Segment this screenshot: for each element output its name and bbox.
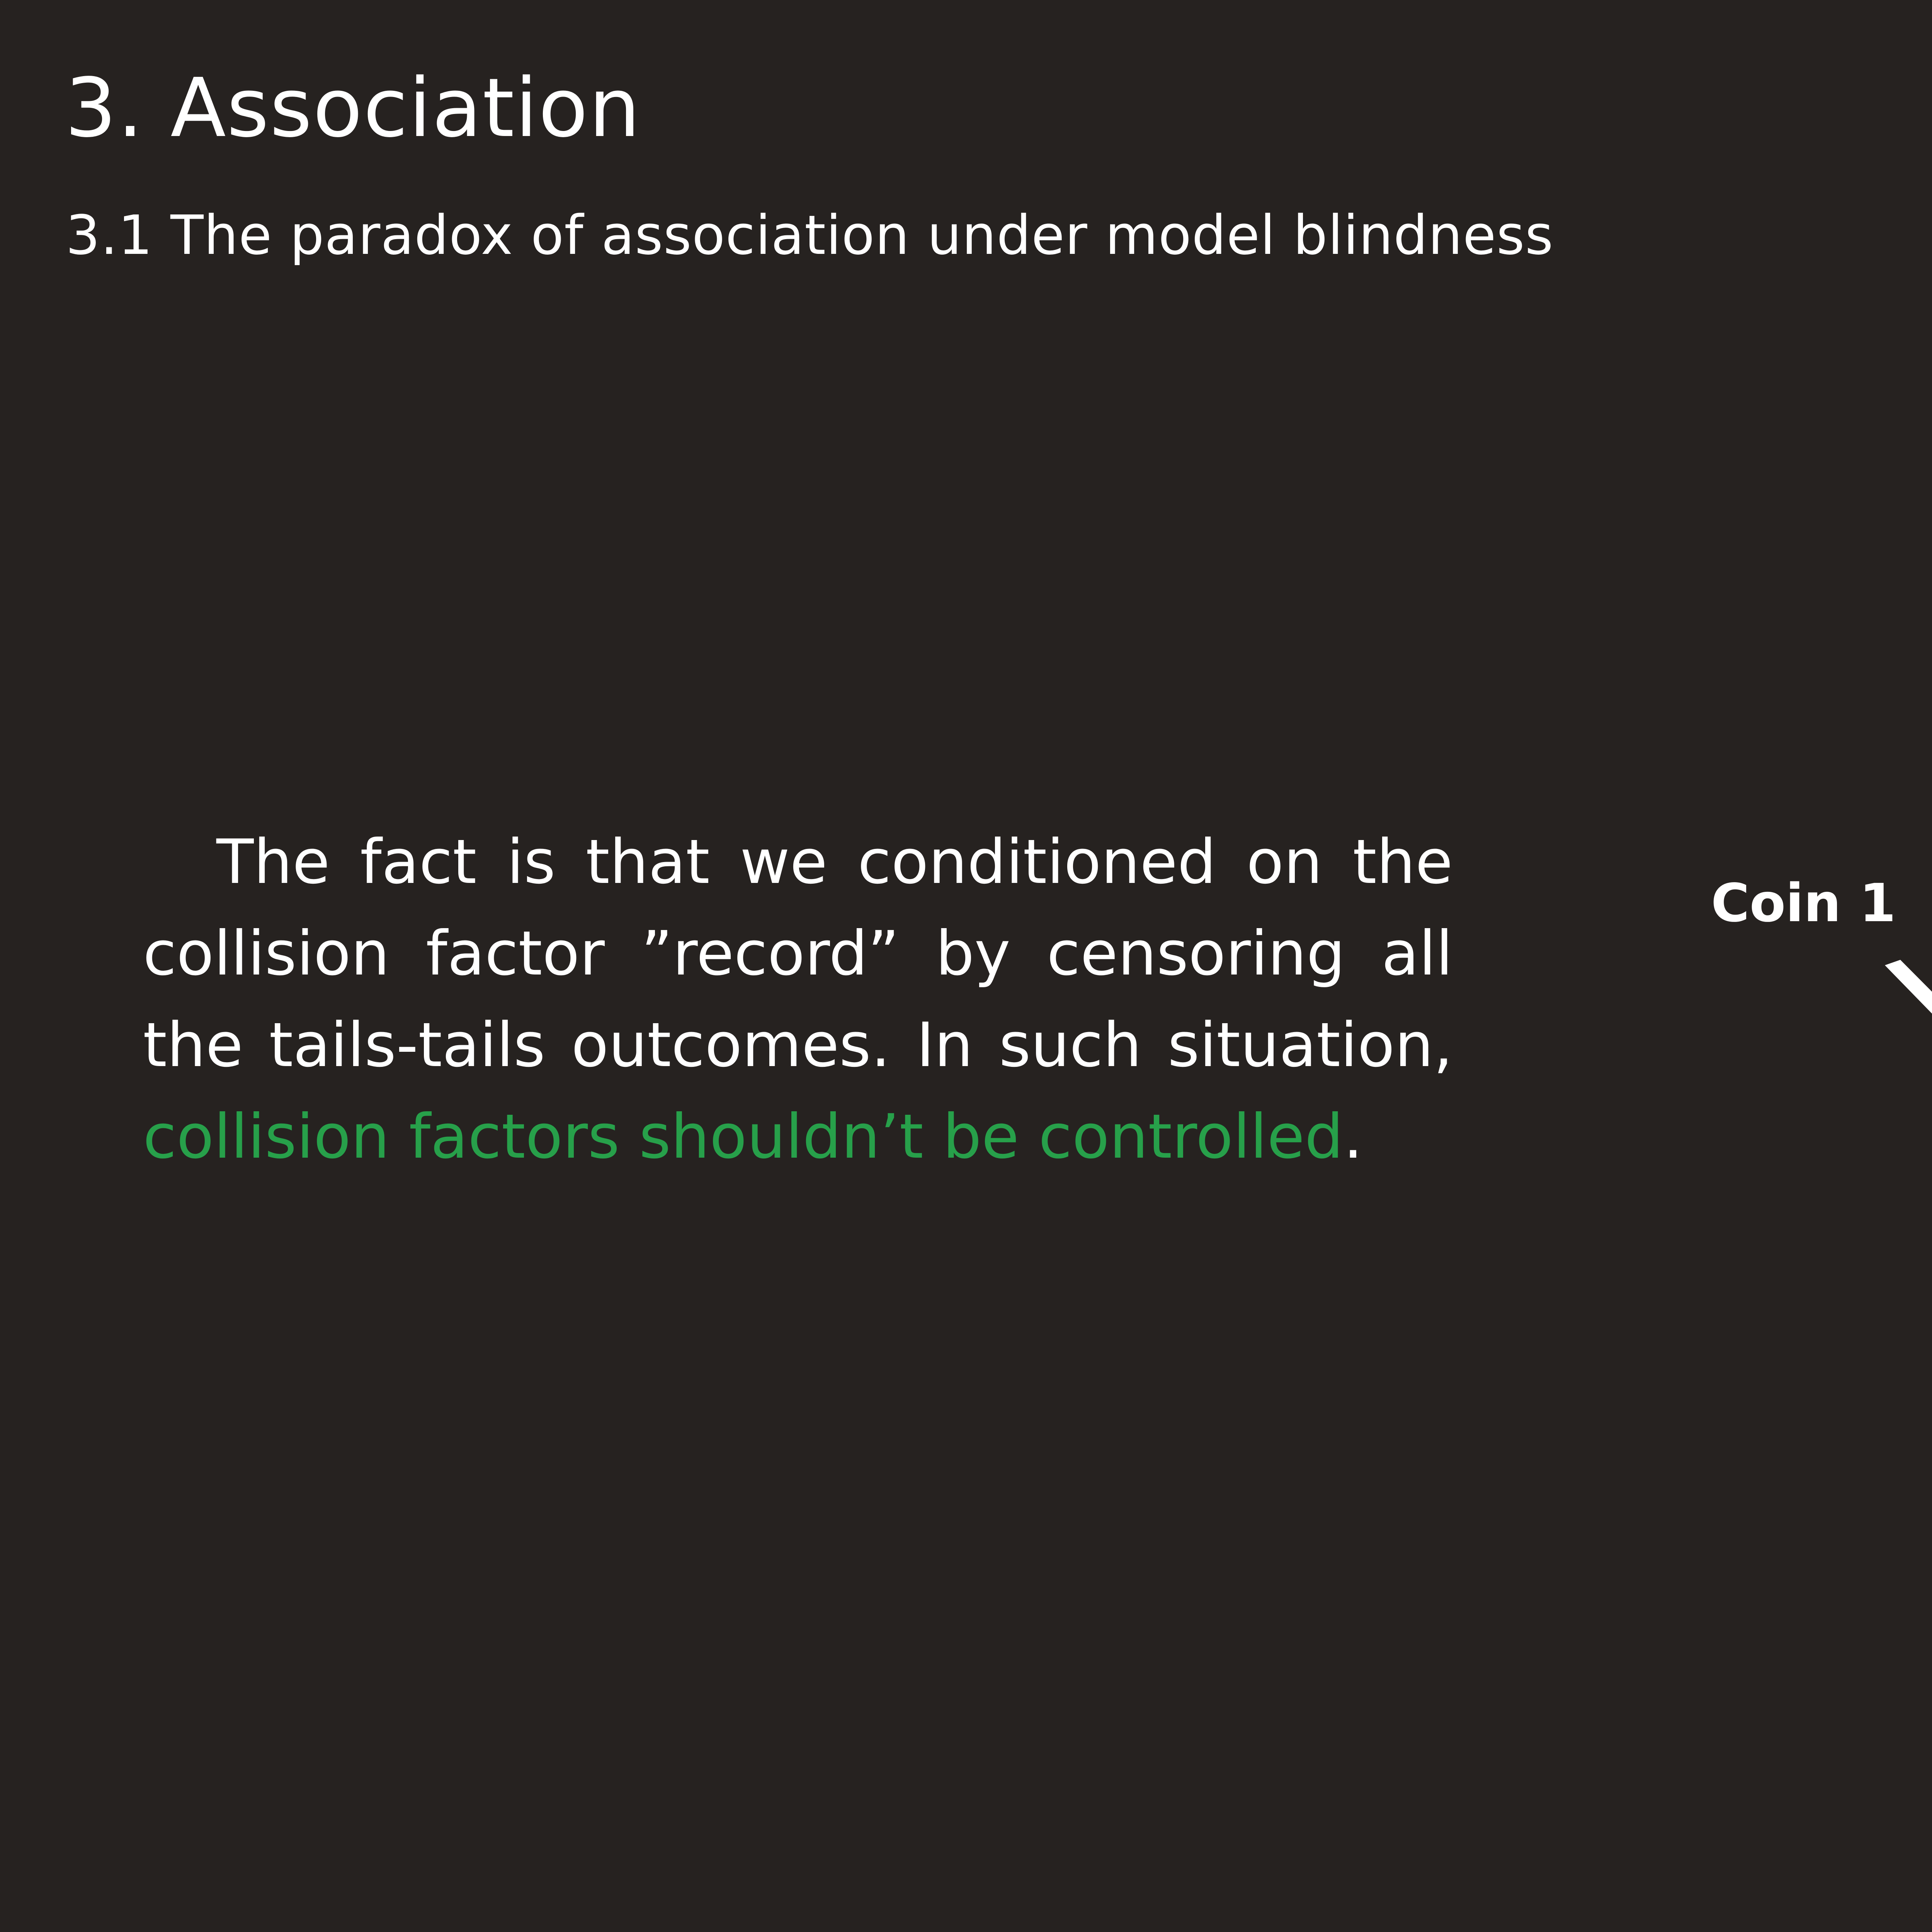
diagram-arrows <box>1642 842 1932 1163</box>
page-title: 3. Association <box>65 68 641 149</box>
collider-diagram: Coin 1 Coin 2 record <box>1642 842 1932 1163</box>
body-text-trailing: . <box>1344 1101 1363 1172</box>
body-paragraph: The fact is that we conditioned on the c… <box>143 816 1453 1183</box>
arrow-coin1-to-record <box>1885 960 1932 1113</box>
slide-canvas: 3. Association 3.1 The paradox of associ… <box>0 0 1932 1932</box>
body-text-plain: The fact is that we conditioned on the c… <box>143 827 1453 1081</box>
body-text-highlight: collision factors shouldn’t be controlle… <box>143 1101 1344 1172</box>
page-subtitle: 3.1 The paradox of association under mod… <box>66 209 1554 263</box>
